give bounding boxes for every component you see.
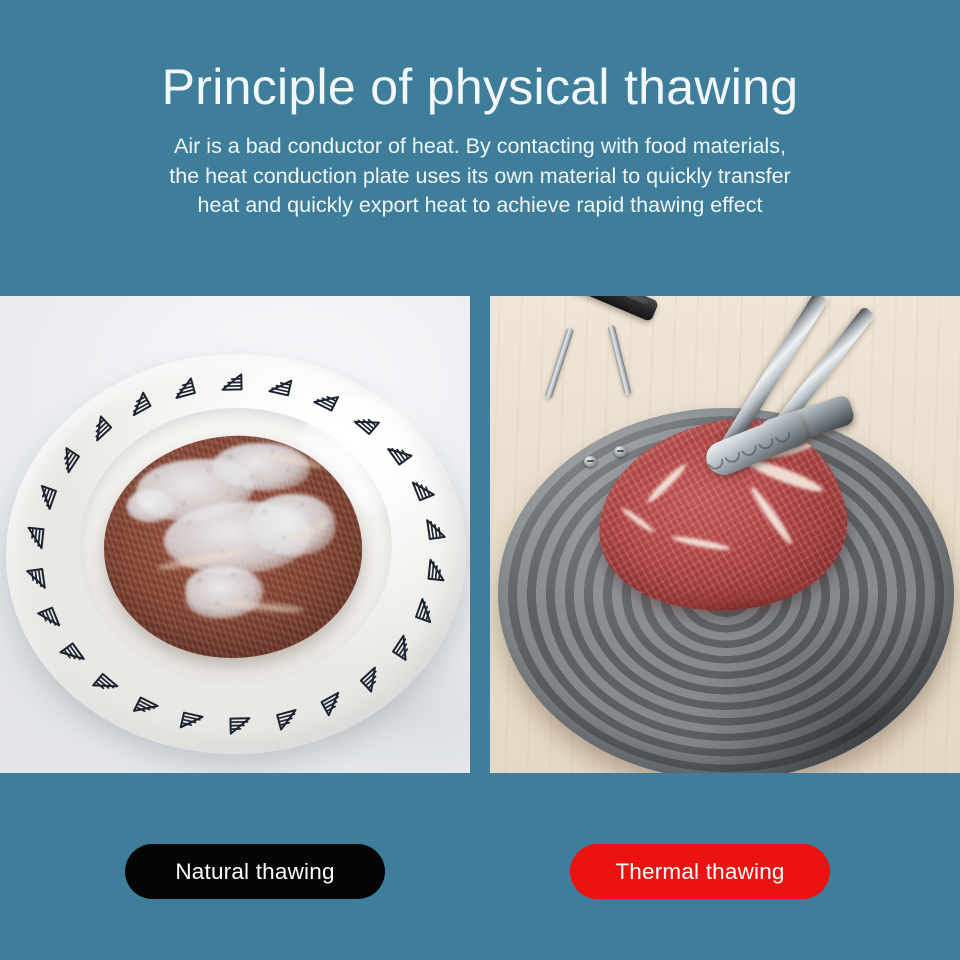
plate-rim-triangle-icon <box>414 598 437 624</box>
fat-marbling <box>748 484 796 547</box>
photo-thermal-thawing <box>490 296 960 773</box>
frost-patch <box>185 565 265 620</box>
badge-thermal-thawing[interactable]: Thermal thawing <box>570 844 830 899</box>
frozen-meat <box>100 432 366 663</box>
header-banner: Principle of physical thawing Air is a b… <box>0 0 960 296</box>
plate-rim-triangle-icon <box>412 476 436 503</box>
page-subtitle: Air is a bad conductor of heat. By conta… <box>50 132 910 221</box>
plate-rim-triangle-icon <box>426 517 446 541</box>
plate-rim-triangle-icon <box>59 641 86 669</box>
photo-natural-thawing <box>0 296 470 773</box>
plate-rim-triangle-icon <box>34 484 57 510</box>
plate-rim-triangle-icon <box>359 666 387 693</box>
plate-rivet <box>614 446 627 457</box>
plate-rim-triangle-icon <box>36 606 60 633</box>
plate-rim-triangle-icon <box>228 717 250 734</box>
plate-rivet <box>584 456 597 467</box>
plate-rim-triangle-icon <box>55 446 81 474</box>
plate-rim-triangle-icon <box>427 559 446 583</box>
plate-rim-triangle-icon <box>319 692 346 718</box>
plate-rim-triangle-icon <box>391 634 417 662</box>
page-title: Principle of physical thawing <box>0 58 960 116</box>
subtitle-line-3: heat and quickly export heat to achieve … <box>50 191 910 221</box>
plate-rim-triangle-icon <box>268 375 293 396</box>
fat-marbling <box>645 462 689 506</box>
plate-rim-triangle-icon <box>26 567 46 591</box>
plate-rim-triangle-icon <box>132 696 159 721</box>
plate-rim-triangle-icon <box>275 709 301 731</box>
subtitle-line-2: the heat conduction plate uses its own m… <box>50 162 910 192</box>
thawing-infographic: Principle of physical thawing Air is a b… <box>0 0 960 960</box>
plate-rim-triangle-icon <box>179 711 204 732</box>
plate-rim-triangle-icon <box>221 373 243 390</box>
badge-natural-thawing[interactable]: Natural thawing <box>125 844 385 899</box>
frost-patch <box>212 441 310 492</box>
plate-rim-triangle-icon <box>86 414 114 441</box>
fat-marbling <box>620 506 656 535</box>
plate-rim-triangle-icon <box>125 391 152 417</box>
fat-marbling <box>671 534 731 552</box>
plate-rim-triangle-icon <box>91 672 119 699</box>
subtitle-line-1: Air is a bad conductor of heat. By conta… <box>50 132 910 162</box>
plate-rim-triangle-icon <box>171 377 197 399</box>
plate-rim-triangle-icon <box>26 526 45 550</box>
